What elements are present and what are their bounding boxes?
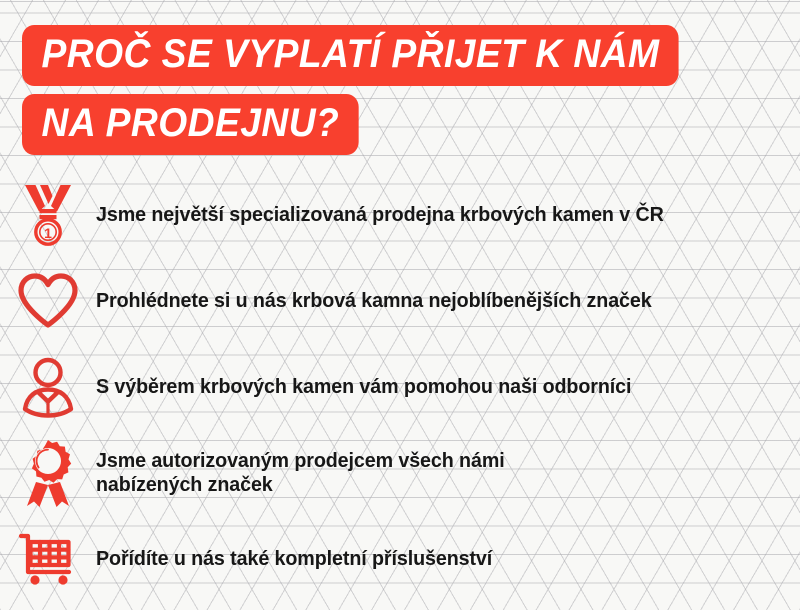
benefit-item: 1 Jsme největší specializovaná prodejna … [0,172,800,258]
shopping-cart-icon [0,531,96,587]
heart-icon [0,272,96,330]
person-advisor-icon [0,356,96,418]
benefit-item: Jsme autorizovaným prodejcem všech námi … [0,430,800,516]
promo-poster: PROČ SE VYPLATÍ PŘIJET K NÁM NA PRODEJNU… [0,0,800,610]
benefit-text: Jsme největší specializovaná prodejna kr… [96,203,664,227]
benefit-text: Jsme autorizovaným prodejcem všech námi … [96,449,505,497]
benefit-text: Prohlédnete si u nás krbová kamna nejobl… [96,289,652,313]
medal-first-place-icon: 1 [0,184,96,246]
benefit-item: Prohlédnete si u nás krbová kamna nejobl… [0,258,800,344]
benefit-item: Pořídíte u nás také kompletní příslušens… [0,516,800,602]
benefits-list: 1 Jsme největší specializovaná prodejna … [0,172,800,602]
headline-block: PROČ SE VYPLATÍ PŘIJET K NÁM NA PRODEJNU… [22,25,728,155]
benefit-item: S výběrem krbových kamen vám pomohou naš… [0,344,800,430]
award-rosette-icon [0,438,96,508]
medal-rank-label: 1 [44,225,52,241]
headline-banner-line-1: PROČ SE VYPLATÍ PŘIJET K NÁM [22,25,679,86]
benefit-text: Pořídíte u nás také kompletní příslušens… [96,547,492,571]
benefit-text: S výběrem krbových kamen vám pomohou naš… [96,375,631,399]
headline-banner-line-2: NA PRODEJNU? [22,94,359,155]
